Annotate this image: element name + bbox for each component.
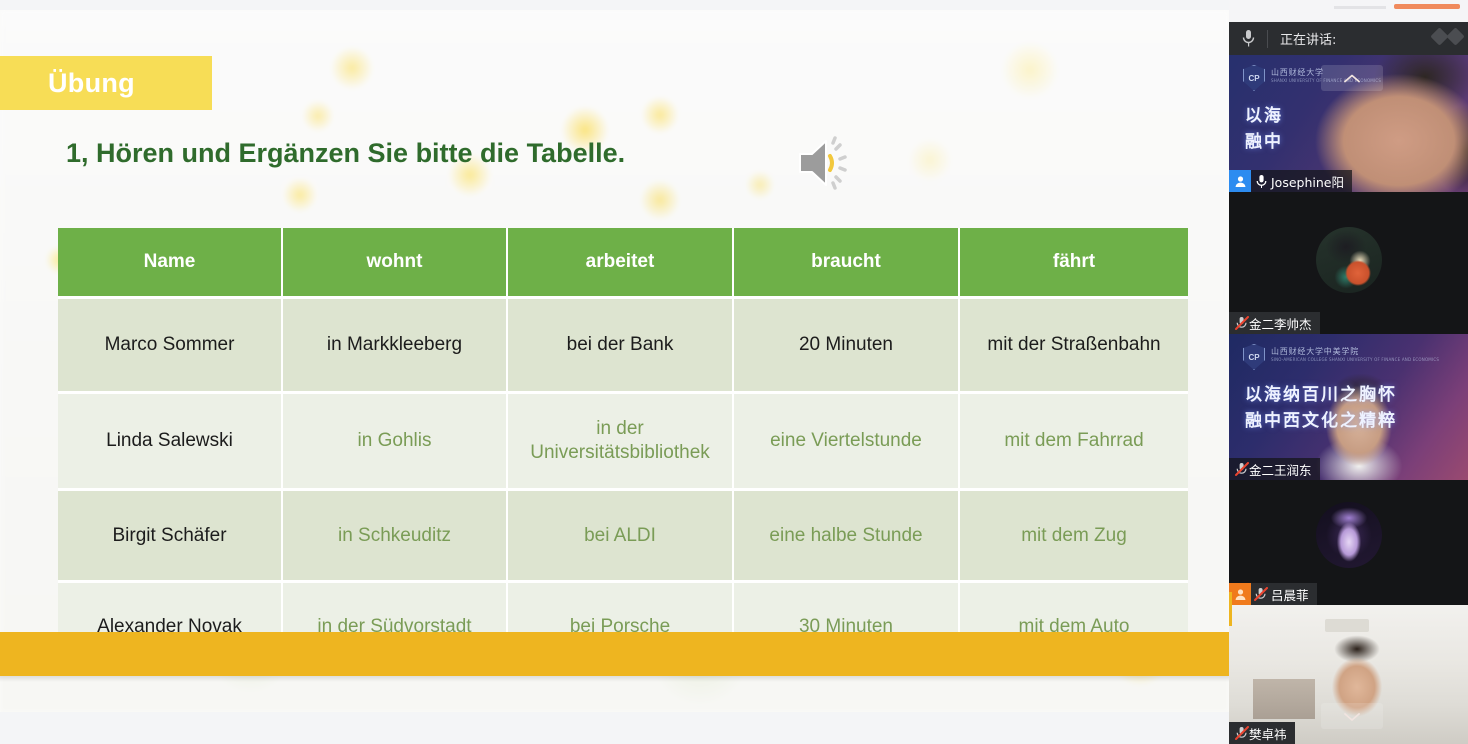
participant-name-chip: 金二李帅杰 [1229, 312, 1320, 334]
participant-name: 樊卓祎 [1249, 724, 1287, 743]
cell-arbeitet: in der Universitätsbibliothek [508, 394, 734, 491]
participant-tile-lishuaijie[interactable]: 金二李帅杰 [1229, 192, 1468, 334]
cell-faehrt: mit der Straßenbahn [960, 299, 1188, 394]
avatar [1316, 227, 1382, 293]
table-header-row: Name wohnt arbeitet braucht fährt [58, 228, 1188, 299]
avatar [1316, 502, 1382, 568]
participant-name: 金二王润东 [1249, 460, 1312, 479]
screen-root: Übung 1, Hören und Ergänzen Sie bitte di… [0, 0, 1468, 744]
cell-wohnt: in Schkeuditz [283, 491, 508, 583]
banner-line-1: 以海 [1245, 101, 1283, 126]
cell-arbeitet: bei ALDI [508, 491, 734, 583]
uebung-badge-label: Übung [48, 68, 135, 99]
chevron-down-icon[interactable] [1321, 703, 1383, 729]
uebung-badge: Übung [0, 56, 212, 110]
window-tab-active[interactable] [1394, 4, 1460, 9]
panel-edge-accent [1229, 592, 1232, 626]
participant-name: Josephine阳 [1271, 172, 1344, 191]
university-banner-text: 山西财经大学中美学院 SINO-AMERICAN COLLEGE SHANXI … [1271, 346, 1439, 362]
table-row: Marco Sommer in Markkleeberg bei der Ban… [58, 299, 1188, 394]
host-badge-icon [1229, 583, 1251, 605]
cell-faehrt: mit dem Zug [960, 491, 1188, 583]
participant-name-chip: 樊卓祎 [1229, 722, 1295, 744]
banner-line-2: 融中 [1245, 127, 1283, 152]
microphone-active-icon[interactable] [1251, 174, 1271, 189]
exercise-table: Name wohnt arbeitet braucht fährt Marco … [58, 228, 1188, 673]
microphone-muted-icon[interactable] [1251, 587, 1271, 601]
participant-name-chip: 金二王润东 [1229, 458, 1320, 480]
university-shield-icon [1243, 65, 1265, 91]
slide-edge-shadow [0, 676, 1229, 682]
chevron-up-icon[interactable] [1321, 65, 1383, 91]
window-top-strip [1229, 0, 1468, 22]
cell-wohnt: in Gohlis [283, 394, 508, 491]
window-tab-inactive[interactable] [1334, 6, 1386, 9]
speaking-label: 正在讲话: [1268, 29, 1336, 48]
background-shelf [1253, 679, 1315, 719]
cell-wohnt: in Markkleeberg [283, 299, 508, 394]
active-speaker-bar: 正在讲话: [1229, 22, 1468, 55]
slide-headline: 1, Hören und Ergänzen Sie bitte die Tabe… [66, 138, 625, 169]
table-header-name: Name [58, 228, 283, 299]
participant-tile-wangrundong[interactable]: 山西财经大学中美学院 SINO-AMERICAN COLLEGE SHANXI … [1229, 334, 1468, 480]
participant-name-chip: Josephine阳 [1229, 170, 1352, 192]
table-header-braucht: braucht [734, 228, 960, 299]
table-header-arbeitet: arbeitet [508, 228, 734, 299]
cell-braucht: 20 Minuten [734, 299, 960, 394]
participant-name: 金二李帅杰 [1249, 314, 1312, 333]
participant-role-badge-icon [1229, 170, 1251, 192]
microphone-muted-icon[interactable] [1229, 462, 1249, 476]
table-header-faehrt: fährt [960, 228, 1188, 299]
cell-braucht: eine Viertelstunde [734, 394, 960, 491]
university-shield-icon [1243, 344, 1265, 370]
zoom-participant-panel: 正在讲话: 山西财经大学 SHANXI UNIVERSITY OF FINANC… [1229, 0, 1468, 744]
shared-screen-area: Übung 1, Hören und Ergänzen Sie bitte di… [0, 0, 1229, 744]
cell-name: Linda Salewski [58, 394, 283, 491]
microphone-muted-icon[interactable] [1229, 316, 1249, 330]
ceiling-lamp [1325, 619, 1369, 632]
table-row: Linda Salewski in Gohlis in der Universi… [58, 394, 1188, 491]
cell-faehrt: mit dem Fahrrad [960, 394, 1188, 491]
microphone-icon[interactable] [1229, 29, 1267, 48]
cell-name: Marco Sommer [58, 299, 283, 394]
participant-tile-josephine[interactable]: 山西财经大学 SHANXI UNIVERSITY OF FINANCE AND … [1229, 55, 1468, 192]
microphone-muted-icon[interactable] [1229, 726, 1249, 740]
speaker-icon[interactable] [792, 132, 862, 194]
banner-line-1: 以海纳百川之胸怀 [1245, 380, 1397, 405]
participant-name: 吕晨菲 [1271, 585, 1309, 604]
participant-name-chip: 吕晨菲 [1229, 583, 1317, 605]
banner-line-2: 融中西文化之精粹 [1245, 406, 1397, 431]
presentation-slide: Übung 1, Hören und Ergänzen Sie bitte di… [0, 10, 1229, 712]
cell-arbeitet: bei der Bank [508, 299, 734, 394]
participant-tile-fanzhuoyi[interactable]: 樊卓祎 [1229, 605, 1468, 744]
table-header-wohnt: wohnt [283, 228, 508, 299]
participant-tile-lvchenfei[interactable]: 吕晨菲 [1229, 480, 1468, 605]
panel-resize-handle[interactable] [1433, 30, 1462, 43]
table-row: Birgit Schäfer in Schkeuditz bei ALDI ei… [58, 491, 1188, 583]
cell-name: Birgit Schäfer [58, 491, 283, 583]
slide-bottom-bar [0, 632, 1229, 676]
cell-braucht: eine halbe Stunde [734, 491, 960, 583]
